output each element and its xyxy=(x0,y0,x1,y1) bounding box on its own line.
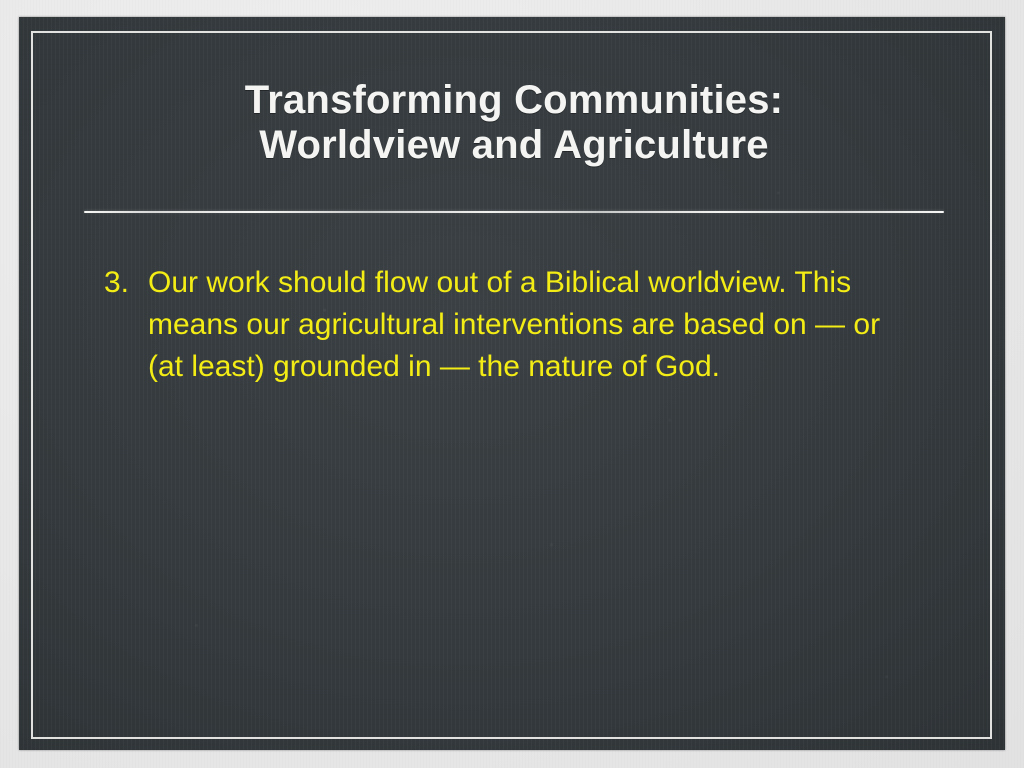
slide-title: Transforming Communities: Worldview and … xyxy=(84,78,944,168)
slide-title-line-2: Worldview and Agriculture xyxy=(84,123,944,168)
divider-line xyxy=(84,211,944,213)
title-divider-rule xyxy=(84,209,944,214)
list-item-marker: 3. xyxy=(104,262,148,304)
list-item-text: Our work should flow out of a Biblical w… xyxy=(148,262,918,388)
slide-body: 3. Our work should flow out of a Biblica… xyxy=(104,262,934,388)
slide-page: Transforming Communities: Worldview and … xyxy=(0,0,1024,768)
slide-title-line-1: Transforming Communities: xyxy=(84,78,944,123)
slide-content: Transforming Communities: Worldview and … xyxy=(0,0,1024,768)
list-item: 3. Our work should flow out of a Biblica… xyxy=(104,262,934,388)
